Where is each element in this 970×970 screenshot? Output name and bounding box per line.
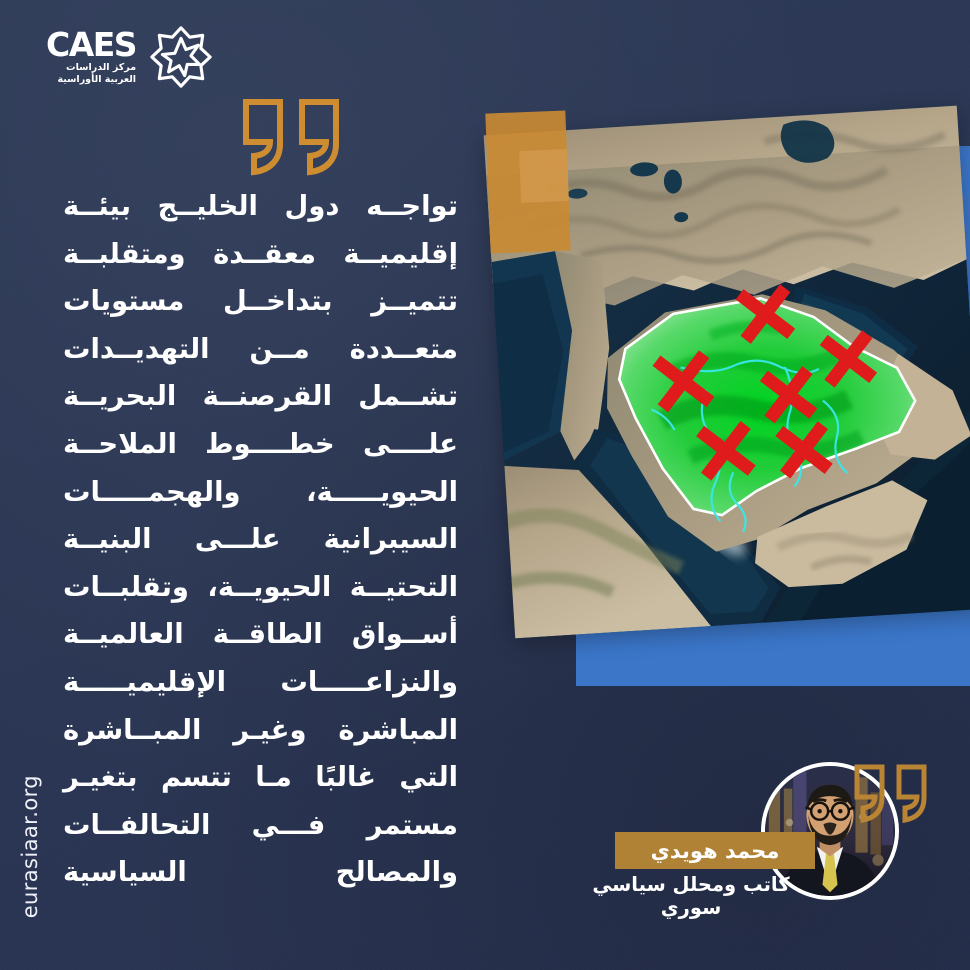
quote-line: التحتيــة الحيويــة، وتقلبــات xyxy=(63,564,458,612)
quote-text: تواجــه دول الخليــج بيئــة إقليميــة مع… xyxy=(63,183,458,897)
quote-line: متعــددة مــن التهديــدات xyxy=(63,326,458,374)
brand-logo-subtitle-line1: مركز الدراسات xyxy=(57,62,136,74)
quote-line: والمصالح السياسية xyxy=(63,849,458,897)
brand-logo[interactable]: CAES مركز الدراسات العربية الأوراسية xyxy=(46,26,256,96)
quote-line: إقليميــة معقــدة ومتقلبــة xyxy=(63,231,458,279)
quote-line: أســواق الطاقــة العالميــة xyxy=(63,611,458,659)
author-role: كاتب ومحلل سياسي سوري xyxy=(560,873,822,919)
quote-line: تتميــز بتداخــل مستويات xyxy=(63,278,458,326)
quote-line: مستمر فـــي التحالفــات xyxy=(63,802,458,850)
quote-line: الحيويـــــة، والهجمـــــات xyxy=(63,469,458,517)
quote-line: والنزاعـــــات الإقليميـــــة xyxy=(63,659,458,707)
brand-logo-wordmark: CAES مركز الدراسات العربية الأوراسية xyxy=(46,29,136,86)
eight-point-star-logo-icon xyxy=(150,26,212,88)
author-name-banner: محمد هويدي xyxy=(615,832,815,869)
quote-line: السيبرانية علـــى البنيــة xyxy=(63,516,458,564)
author-name: محمد هويدي xyxy=(651,839,780,863)
brand-logo-subtitle-line2: العربية الأوراسية xyxy=(57,74,136,86)
orange-accent-panel-overlay xyxy=(519,149,569,203)
quote-line: تواجــه دول الخليــج بيئــة xyxy=(63,183,458,231)
brand-logo-text: CAES xyxy=(46,29,136,60)
quote-line: علــــى خطــــوط الملاحــة xyxy=(63,421,458,469)
site-url-label[interactable]: eurasiaar.org xyxy=(18,775,42,918)
quotation-mark-icon xyxy=(852,764,930,824)
quote-line: تشــمل القرصنــة البحريــة xyxy=(63,373,458,421)
quotation-mark-icon xyxy=(240,98,344,176)
quote-line: التي غالبًا مـا تتسم بتغيـر xyxy=(63,754,458,802)
quote-line: المباشرة وغيـر المبــاشرة xyxy=(63,707,458,755)
poster-canvas: CAES مركز الدراسات العربية الأوراسية xyxy=(0,0,970,970)
